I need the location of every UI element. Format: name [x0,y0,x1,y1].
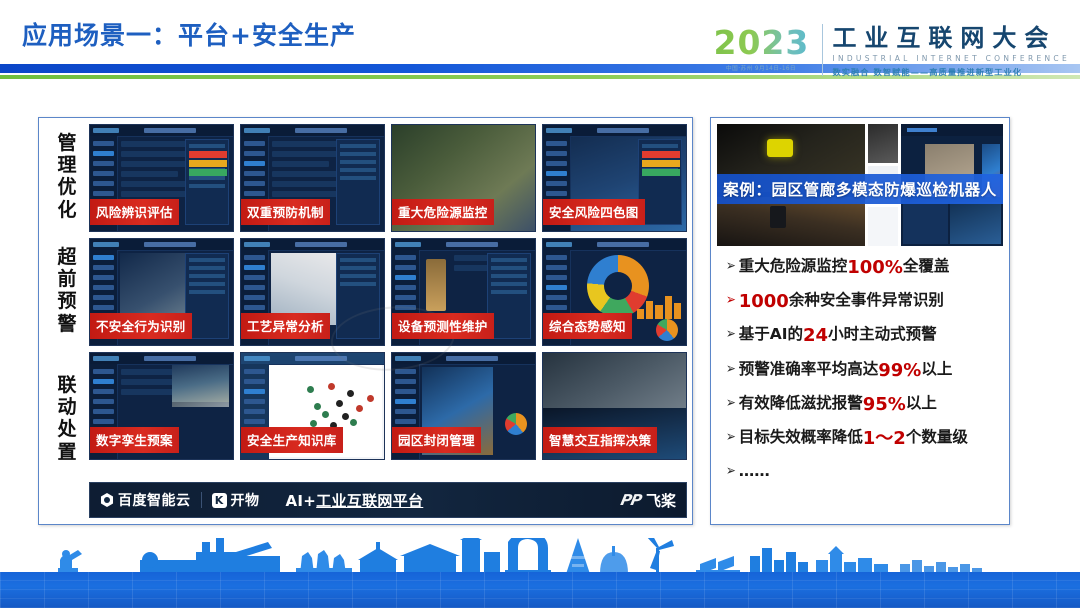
vlabel-char: 前 [47,268,87,290]
thumbnail-caption: 双重预防机制 [241,199,330,225]
conference-logo: 2023 中国·苏州 9月14日-16日 工业互联网大会 INDUSTRIAL … [709,22,1070,82]
bullet-number: 99% [878,361,921,382]
vertical-label-linked-disposal: 联 动 处 置 [47,374,87,463]
case-title-banner: 案例：园区管廊多模态防爆巡检机器人 [717,174,1003,204]
left-panel: 管 理 优 化 超 前 预 警 联 动 处 置 [38,117,693,525]
paddle-logo[interactable]: PP 飞桨 [621,490,676,511]
bullet-pre-text: 重大危险源监控 [739,258,848,276]
thumbnail-caption: 综合态势感知 [543,313,632,339]
skyline-silhouette [0,538,1080,574]
vlabel-char: 理 [47,154,87,176]
list-item: ➢ 预警准确率平均高达99%以上 [725,361,1001,382]
kaiwu-label: 开物 [231,490,260,510]
vlabel-char: 处 [47,418,87,440]
paddle-label: 飞桨 [646,490,676,511]
list-item: ➢ …… [725,463,1001,481]
thumbnail-caption: 不安全行为识别 [90,313,192,339]
pie-chart [656,319,678,341]
bullet-pre-text: 预警准确率平均高达 [739,361,879,379]
bullet-post-text: 余种安全事件异常识别 [789,292,944,310]
footer-decoration [0,538,1080,608]
bullet-pre-text: 目标失效概率降低 [739,429,863,447]
kaiwu-mark-icon: K [212,493,227,508]
logo-year: 2023 [709,26,813,59]
thumbnail-four-color-risk-map[interactable]: 安全风险四色图 [542,124,687,232]
bullet-post-text: 全覆盖 [903,258,950,276]
bullet-number: 1～2 [863,429,906,450]
thumbnail-grid: 风险辨识评估 双重预防机制 重大危险源监控 [89,124,687,466]
bullet-post-text: 以上 [921,361,952,379]
bullet-number: 100% [847,258,903,279]
list-item: ➢ 有效降低滋扰报警95%以上 [725,395,1001,416]
vertical-label-group: 管 理 优 化 超 前 预 警 联 动 处 置 [47,124,87,518]
logo-year-block: 2023 中国·苏州 9月14日-16日 [709,22,813,72]
bullet-arrow-icon: ➢ [726,395,736,412]
brand-divider [201,492,202,508]
thumbnail-caption: 安全生产知识库 [241,427,343,453]
thumbnail-process-anomaly[interactable]: 工艺异常分析 [240,238,385,346]
bullet-pre-text: 有效降低滋扰报警 [739,395,863,413]
page-title: 应用场景一：平台+安全生产 [22,16,356,52]
baidu-cloud-label: 百度智能云 [118,490,191,510]
logo-divider [822,24,823,76]
thumbnail-caption: 园区封闭管理 [392,427,481,453]
thumbnail-caption: 重大危险源监控 [392,199,494,225]
list-item: ➢ 1000余种安全事件异常识别 [725,292,1001,313]
vlabel-char: 动 [47,396,87,418]
thumbnail-command-decision[interactable]: 智慧交互指挥决策 [542,352,687,460]
thumbnail-caption: 数字孪生预案 [90,427,179,453]
footer-ground [0,572,1080,608]
platform-label: AI+工业互联网平台 [286,490,424,511]
paddle-mark-icon: PP [619,491,643,509]
kaiwu-logo[interactable]: K 开物 [212,490,260,510]
list-item: ➢ 目标失效概率降低1～2个数量级 [725,429,1001,450]
vertical-label-management-optimization: 管 理 优 化 [47,132,87,221]
logo-tagline: 数实融合 数智赋能——高质量推进新型工业化 [832,66,1070,78]
bullet-post-text: 小时主动式预警 [828,326,937,344]
bullet-arrow-icon: ➢ [726,361,736,378]
thumbnail-risk-identification[interactable]: 风险辨识评估 [89,124,234,232]
logo-name-block: 工业互联网大会 INDUSTRIAL INTERNET CONFERENCE 数… [832,22,1070,78]
logo-name-en: INDUSTRIAL INTERNET CONFERENCE [832,54,1070,63]
thumbnail-row: 风险辨识评估 双重预防机制 重大危险源监控 [89,124,687,232]
bullet-pre-text: …… [739,463,770,481]
baidu-cloud-logo[interactable]: 百度智能云 [100,490,191,510]
bar-chart [637,293,681,319]
vlabel-char: 超 [47,246,87,268]
thumbnail-situational-awareness[interactable]: 综合态势感知 [542,238,687,346]
thumbnail-predictive-maintenance[interactable]: 设备预测性维护 [391,238,536,346]
bullet-number: 24 [803,326,828,347]
bullet-arrow-icon: ➢ [726,326,736,343]
thumbnail-caption: 工艺异常分析 [241,313,330,339]
bullet-arrow-icon: ➢ [726,463,736,480]
bullet-post-text: 以上 [906,395,937,413]
vlabel-char: 置 [47,441,87,463]
list-item: ➢ 基于AI的24小时主动式预警 [725,326,1001,347]
bullet-post-text: 个数量级 [906,429,968,447]
thumbnail-major-hazard-monitoring[interactable]: 重大危险源监控 [391,124,536,232]
list-item: ➢ 重大危险源监控100%全覆盖 [725,258,1001,279]
benefit-bullet-list: ➢ 重大危险源监控100%全覆盖 ➢ 1000余种安全事件异常识别 ➢ 基于AI… [725,258,1001,494]
thumbnail-row: 不安全行为识别 工艺异常分析 [89,238,687,346]
logo-name-cn: 工业互联网大会 [832,26,1070,51]
baidu-bear-icon [100,493,114,507]
vertical-label-early-warning: 超 前 预 警 [47,246,87,335]
platform-prefix: AI+ [286,492,317,510]
vlabel-char: 管 [47,132,87,154]
bullet-pre-text: 基于AI的 [739,326,803,344]
thumbnail-dual-prevention[interactable]: 双重预防机制 [240,124,385,232]
vlabel-char: 预 [47,290,87,312]
vlabel-char: 联 [47,374,87,396]
bullet-arrow-icon: ➢ [726,429,736,446]
right-panel: 案例：园区管廊多模态防爆巡检机器人 ➢ 重大危险源监控100%全覆盖 ➢ 100… [710,117,1010,525]
thumbnail-park-closed-management[interactable]: 园区封闭管理 [391,352,536,460]
bullet-number: 1000 [739,292,789,313]
logo-year-subtitle: 中国·苏州 9月14日-16日 [712,63,812,72]
thumbnail-caption: 设备预测性维护 [392,313,494,339]
bullet-arrow-icon: ➢ [726,292,736,309]
thumbnail-row: 数字孪生预案 安全生产知识库 [89,352,687,460]
bullet-arrow-icon: ➢ [726,258,736,275]
vlabel-char: 优 [47,176,87,198]
thumbnail-caption: 安全风险四色图 [543,199,645,225]
vlabel-char: 警 [47,313,87,335]
vlabel-char: 化 [47,199,87,221]
bullet-number: 95% [863,395,906,416]
brand-bar: 百度智能云 K 开物 AI+工业互联网平台 PP 飞桨 [89,482,687,518]
slide-header: 应用场景一：平台+安全生产 2023 中国·苏州 9月14日-16日 工业互联网… [0,0,1080,100]
thumbnail-caption: 风险辨识评估 [90,199,179,225]
platform-name: 工业互联网平台 [316,492,423,510]
thumbnail-safety-knowledge-base[interactable]: 安全生产知识库 [240,352,385,460]
thumbnail-caption: 智慧交互指挥决策 [543,427,657,453]
thumbnail-unsafe-behavior[interactable]: 不安全行为识别 [89,238,234,346]
thumbnail-digital-twin-plan[interactable]: 数字孪生预案 [89,352,234,460]
